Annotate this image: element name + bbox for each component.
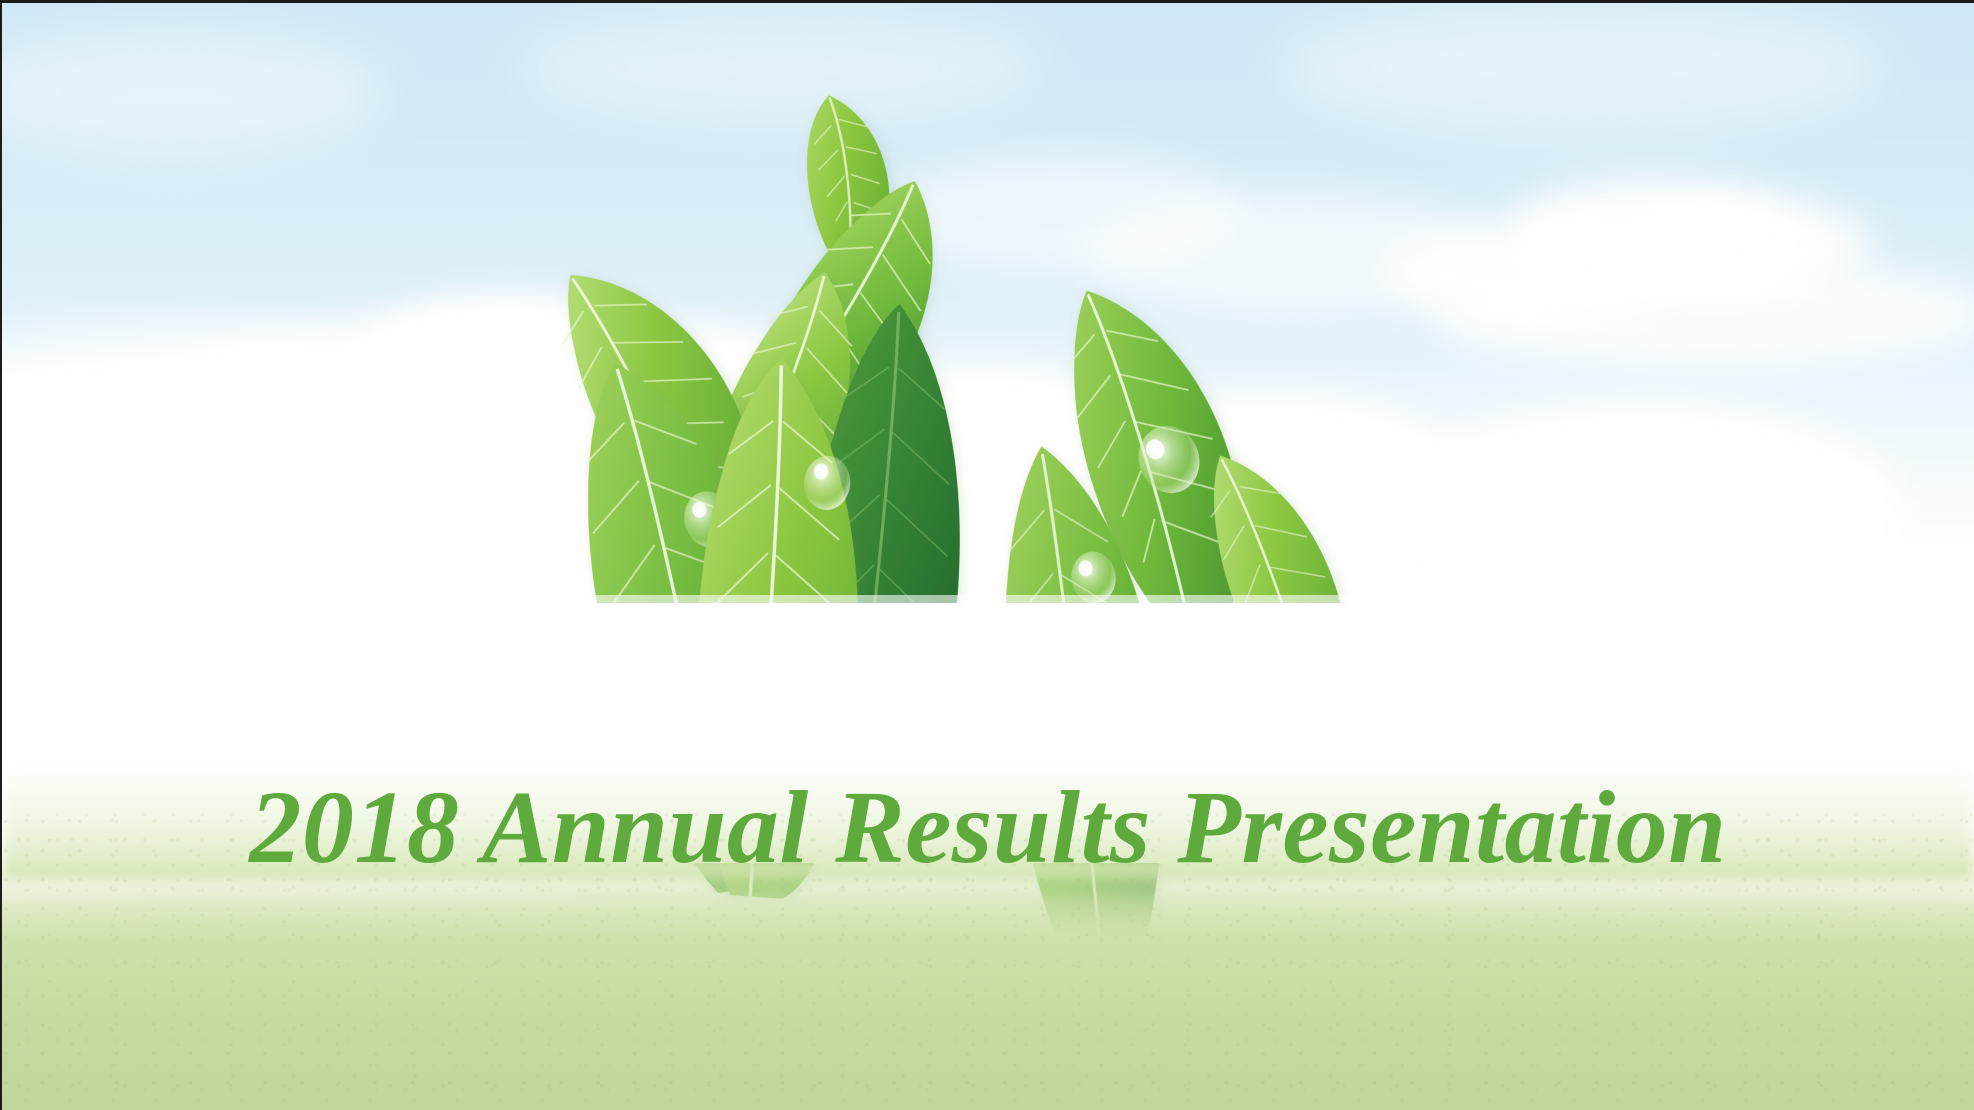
cloud-wisp-top-left <box>0 33 382 153</box>
presentation-slide: 2018 Annual Results Presentation <box>0 0 1974 1110</box>
cloud-right-mid <box>1432 258 1974 368</box>
page-title: 2018 Annual Results Presentation <box>2 773 1974 882</box>
cloud-wisp-top-right <box>1282 3 1882 133</box>
leaf-cluster-illustration <box>562 83 1362 623</box>
